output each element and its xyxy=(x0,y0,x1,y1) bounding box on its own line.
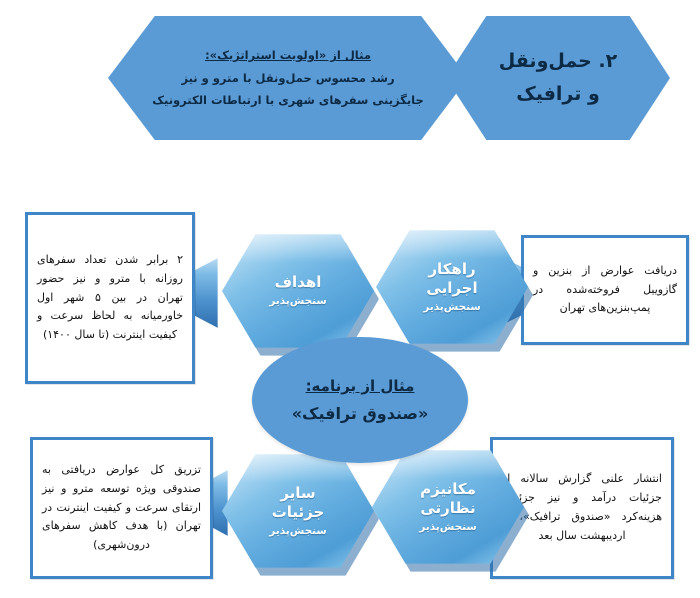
hexagon-node-monitoring[interactable]: مکانیزم نظارتی سنجش‌پذیر xyxy=(372,448,524,566)
banner-line-3: جایگزینی سفرهای شهری با ارتباطات الکترون… xyxy=(152,89,424,111)
hexagon-node-monitoring-label-line-1: مکانیزم xyxy=(420,480,476,500)
note-box-other-details-text: تزریق کل عوارض دریافتی به صندوقی ویژه تو… xyxy=(42,461,201,556)
diagram-canvas: مثال از «اولویت استراتژیک»: رشد محسوس حم… xyxy=(0,0,700,598)
center-ellipse-line-2: «صندوق ترافیک» xyxy=(292,404,429,423)
hexagon-node-objectives-sublabel: سنجش‌پذیر xyxy=(269,295,327,309)
hexagon-node-solution[interactable]: راهکار اجرایی سنجش‌پذیر xyxy=(376,228,528,346)
hexagon-node-other-details-label-line-2: جزئیات xyxy=(272,503,325,523)
hexagon-node-solution-label-line-1: راهکار xyxy=(428,260,475,280)
hexagon-node-monitoring-sublabel: سنجش‌پذیر xyxy=(419,521,477,535)
center-ellipse-program-example: مثال از برنامه: «صندوق ترافیک» xyxy=(252,337,468,463)
connector-arrow-objectives-left xyxy=(194,258,218,328)
section-title-hexagon: ۲. حمل‌ونقل و ترافیک xyxy=(446,16,670,140)
note-box-solution: دریافت عوارض از بنزین و گازوییل فروخته‌ش… xyxy=(521,235,689,345)
strategic-priority-banner: مثال از «اولویت استراتژیک»: رشد محسوس حم… xyxy=(108,16,468,140)
note-box-objectives-text: ۲ برابر شدن تعداد سفرهای روزانه با مترو … xyxy=(37,251,183,346)
hexagon-node-monitoring-label-line-2: نظارتی xyxy=(420,499,475,519)
banner-line-1: مثال از «اولویت استراتژیک»: xyxy=(152,44,424,66)
hexagon-node-solution-label-line-2: اجرایی xyxy=(426,279,477,299)
hexagon-node-other-details-sublabel: سنجش‌پذیر xyxy=(269,525,327,539)
section-title-text: ۲. حمل‌ونقل و ترافیک xyxy=(499,45,617,112)
hexagon-node-other-details[interactable]: سایر جزئیات سنجش‌پذیر xyxy=(222,452,374,570)
note-box-other-details: تزریق کل عوارض دریافتی به صندوقی ویژه تو… xyxy=(30,437,213,579)
center-ellipse-line-1: مثال از برنامه: xyxy=(306,377,415,395)
hexagon-node-objectives[interactable]: اهداف سنجش‌پذیر xyxy=(222,232,374,350)
hexagon-node-other-details-label-line-1: سایر xyxy=(280,484,315,504)
note-box-objectives: ۲ برابر شدن تعداد سفرهای روزانه با مترو … xyxy=(25,212,195,384)
section-title-line-1: ۲. حمل‌ونقل xyxy=(499,45,617,78)
hexagon-node-objectives-label: اهداف xyxy=(275,273,322,293)
banner-line-2: رشد محسوس حمل‌ونقل با مترو و نیز xyxy=(152,67,424,89)
hexagon-node-solution-sublabel: سنجش‌پذیر xyxy=(423,301,481,315)
note-box-monitoring-text: انتشار علنی گزارش سالانه از جزئیات درآمد… xyxy=(502,470,662,546)
note-box-solution-text: دریافت عوارض از بنزین و گازوییل فروخته‌ش… xyxy=(533,262,677,319)
section-title-line-2: و ترافیک xyxy=(499,78,617,111)
strategic-priority-banner-text: مثال از «اولویت استراتژیک»: رشد محسوس حم… xyxy=(116,44,460,111)
